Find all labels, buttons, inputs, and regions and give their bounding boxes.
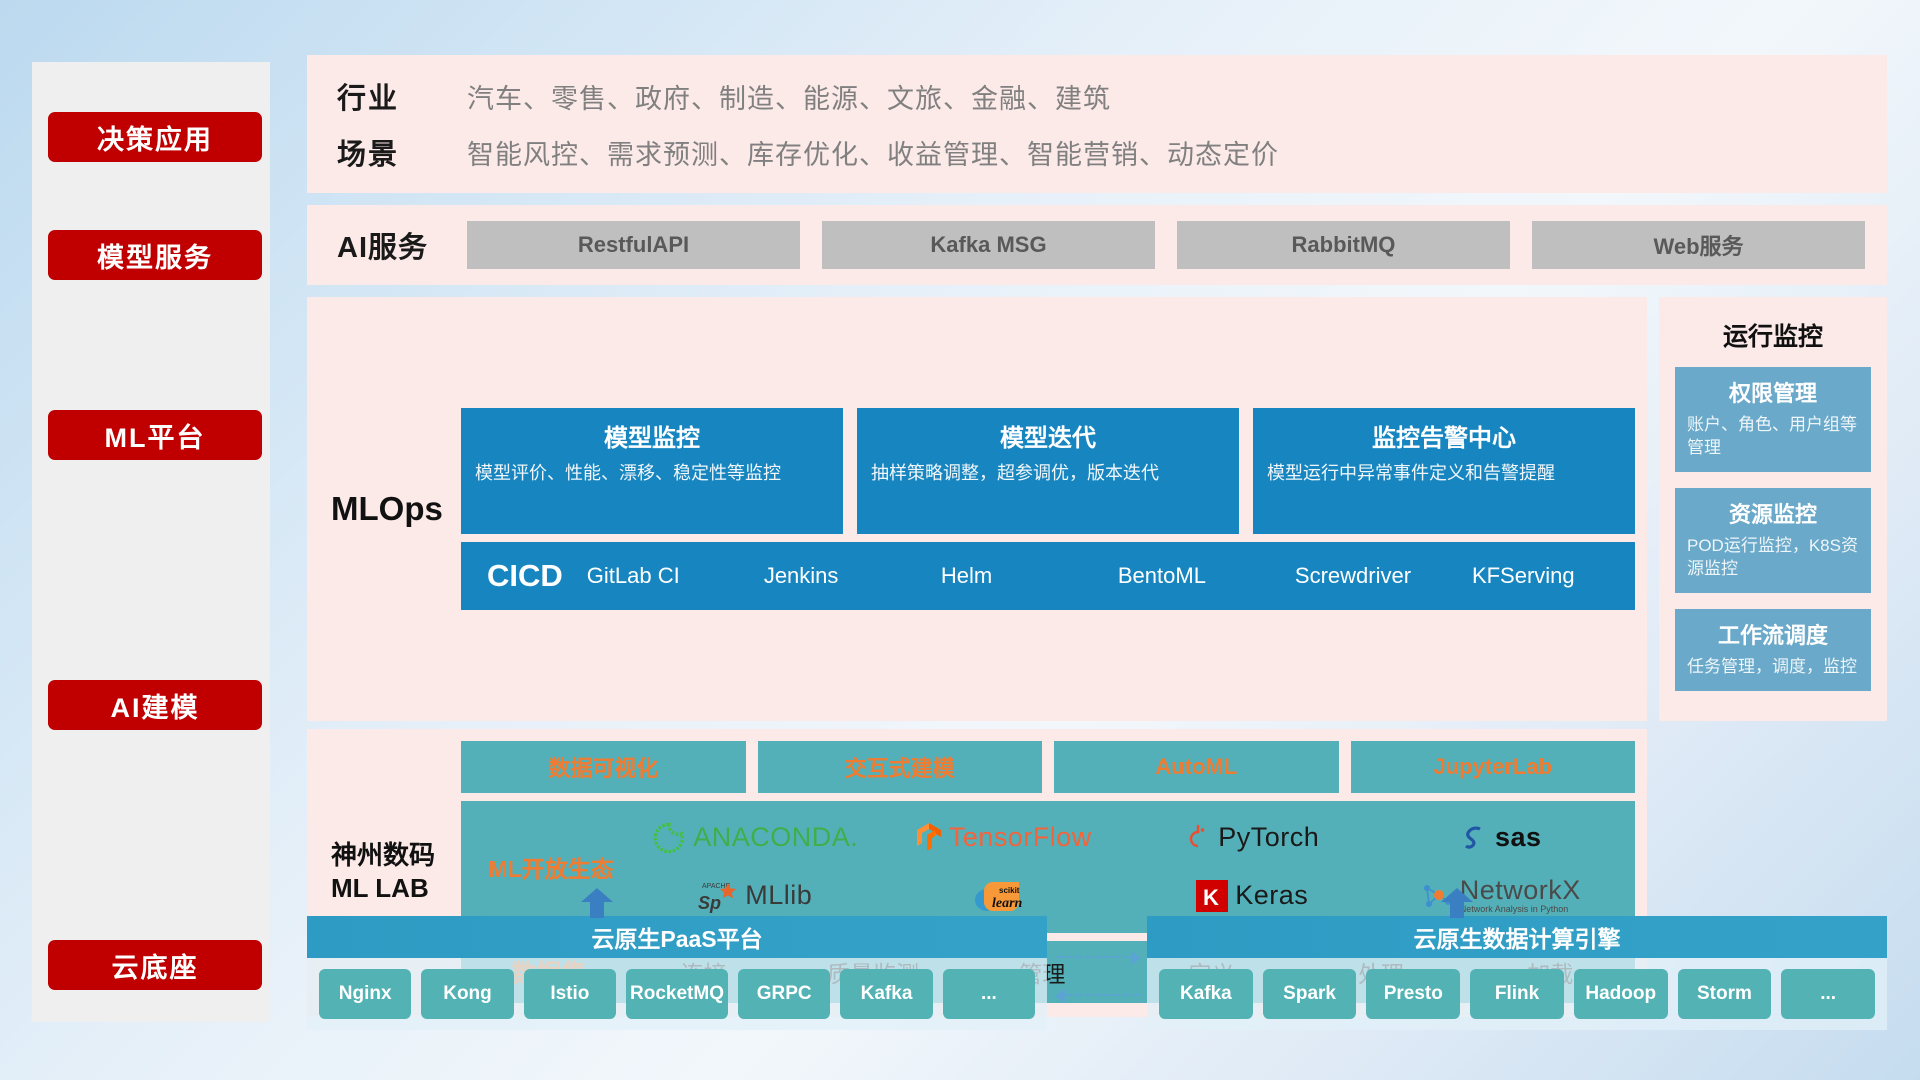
industry-items: 汽车、零售、政府、制造、能源、文旅、金融、建筑 — [467, 77, 1111, 116]
anaconda-icon — [652, 821, 686, 855]
logo-sas: sas — [1377, 809, 1626, 867]
card-title: 模型迭代 — [871, 418, 1225, 453]
ml-lab-label-line1: 神州数码 — [331, 839, 461, 872]
ai-service-band: AI服务 RestfulAPI Kafka MSG RabbitMQ Web服务 — [307, 205, 1887, 285]
paas-platform-title: 云原生PaaS平台 — [307, 916, 1047, 958]
mlops-card-model-iteration[interactable]: 模型迭代 抽样策略调整，超参调优，版本迭代 — [857, 408, 1239, 534]
mlops-section: MLOps 模型监控 模型评价、性能、漂移、稳定性等监控 模型迭代 抽样策略调整… — [307, 297, 1887, 721]
mlops-band: MLOps 模型监控 模型评价、性能、漂移、稳定性等监控 模型迭代 抽样策略调整… — [307, 297, 1647, 721]
cicd-item-kfserving[interactable]: KFServing — [1458, 563, 1635, 588]
logo-text: sas — [1495, 822, 1542, 853]
stage-label: 云底座 — [112, 946, 199, 985]
data-engine-chip-list: Kafka Spark Presto Flink Hadoop Storm ..… — [1147, 958, 1887, 1030]
ai-service-buttons: RestfulAPI Kafka MSG RabbitMQ Web服务 — [467, 221, 1865, 269]
stage-pill-ml-platform[interactable]: ML平台 — [48, 410, 262, 460]
logo-anaconda: ANACONDA. — [631, 809, 880, 867]
infrastructure-section: 云原生PaaS平台 Nginx Kong Istio RocketMQ GRPC… — [307, 898, 1887, 1048]
stage-pill-cloud-base[interactable]: 云底座 — [48, 940, 262, 990]
engine-chip-hadoop[interactable]: Hadoop — [1574, 969, 1668, 1019]
paas-chip-grpc[interactable]: GRPC — [738, 969, 830, 1019]
tool-chip-automl[interactable]: AutoML — [1054, 741, 1339, 793]
paas-chip-kafka[interactable]: Kafka — [840, 969, 932, 1019]
stage-rail — [32, 62, 270, 1022]
logo-text: TensorFlow — [949, 822, 1092, 853]
cicd-item-gitlab-ci[interactable]: GitLab CI — [573, 563, 750, 588]
card-title: 权限管理 — [1687, 376, 1859, 408]
engine-chip-kafka[interactable]: Kafka — [1159, 969, 1253, 1019]
card-desc: 账户、角色、用户组等管理 — [1687, 414, 1859, 460]
card-desc: 模型运行中异常事件定义和告警提醒 — [1267, 461, 1621, 485]
ml-lab-label: 神州数码 ML LAB — [331, 839, 461, 904]
engine-chip-storm[interactable]: Storm — [1678, 969, 1772, 1019]
stage-label: ML平台 — [105, 416, 206, 455]
scenario-label: 场景 — [337, 131, 467, 173]
logo-text: ANACONDA. — [693, 822, 858, 853]
cicd-item-helm[interactable]: Helm — [927, 563, 1104, 588]
card-desc: 任务管理，调度，监控 — [1687, 656, 1859, 679]
mlops-cards: 模型监控 模型评价、性能、漂移、稳定性等监控 模型迭代 抽样策略调整，超参调优，… — [461, 408, 1635, 534]
card-title: 模型监控 — [475, 418, 829, 453]
runtime-monitoring-column: 运行监控 权限管理 账户、角色、用户组等管理 资源监控 POD运行监控，K8S资… — [1659, 297, 1887, 721]
data-compute-engine-block: 云原生数据计算引擎 Kafka Spark Presto Flink Hadoo… — [1147, 916, 1887, 1030]
ai-service-button-rabbitmq[interactable]: RabbitMQ — [1177, 221, 1510, 269]
industry-label: 行业 — [337, 75, 467, 117]
ml-lab-tool-chips: 数据可视化 交互式建模 AutoML JupyterLab — [461, 741, 1635, 793]
ai-service-label: AI服务 — [337, 224, 467, 266]
paas-chip-list: Nginx Kong Istio RocketMQ GRPC Kafka ... — [307, 958, 1047, 1030]
paas-chip-kong[interactable]: Kong — [421, 969, 513, 1019]
stage-label: AI建模 — [111, 686, 200, 725]
engine-chip-more[interactable]: ... — [1781, 969, 1875, 1019]
arrow-left-icon — [1055, 989, 1065, 1003]
card-title: 工作流调度 — [1687, 618, 1859, 650]
ai-service-button-web-service[interactable]: Web服务 — [1532, 221, 1865, 269]
stage-label: 模型服务 — [97, 236, 213, 275]
scenario-items: 智能风控、需求预测、库存优化、收益管理、智能营销、动态定价 — [467, 133, 1279, 172]
mlops-card-model-monitoring[interactable]: 模型监控 模型评价、性能、漂移、稳定性等监控 — [461, 408, 843, 534]
stage-pill-ai-modeling[interactable]: AI建模 — [48, 680, 262, 730]
mlops-content: 模型监控 模型评价、性能、漂移、稳定性等监控 模型迭代 抽样策略调整，超参调优，… — [461, 408, 1635, 610]
card-desc: 模型评价、性能、漂移、稳定性等监控 — [475, 461, 829, 485]
monitor-card-resource[interactable]: 资源监控 POD运行监控，K8S资源监控 — [1675, 488, 1871, 593]
scenario-row: 场景 智能风控、需求预测、库存优化、收益管理、智能营销、动态定价 — [337, 124, 1887, 180]
cicd-item-screwdriver[interactable]: Screwdriver — [1281, 563, 1458, 588]
connector-line-right — [1057, 956, 1139, 958]
engine-chip-flink[interactable]: Flink — [1470, 969, 1564, 1019]
logo-pytorch: PyTorch — [1128, 809, 1377, 867]
cicd-item-jenkins[interactable]: Jenkins — [750, 563, 927, 588]
engine-chip-spark[interactable]: Spark — [1263, 969, 1357, 1019]
pytorch-icon — [1185, 822, 1211, 854]
cicd-title: CICD — [461, 558, 573, 594]
card-title: 资源监控 — [1687, 497, 1859, 529]
stage-pill-decision-app[interactable]: 决策应用 — [48, 112, 262, 162]
up-arrow-icon — [1437, 888, 1477, 918]
sas-icon — [1460, 823, 1488, 853]
monitor-card-workflow[interactable]: 工作流调度 任务管理，调度，监控 — [1675, 609, 1871, 691]
runtime-monitoring-title: 运行监控 — [1675, 307, 1871, 367]
paas-chip-istio[interactable]: Istio — [524, 969, 616, 1019]
paas-chip-rocketmq[interactable]: RocketMQ — [626, 969, 728, 1019]
paas-chip-more[interactable]: ... — [943, 969, 1035, 1019]
tool-chip-interactive-modeling[interactable]: 交互式建模 — [758, 741, 1043, 793]
tool-chip-jupyterlab[interactable]: JupyterLab — [1351, 741, 1636, 793]
engine-chip-presto[interactable]: Presto — [1366, 969, 1460, 1019]
cicd-bar: CICD GitLab CI Jenkins Helm BentoML Scre… — [461, 542, 1635, 610]
bidirectional-connector — [1057, 956, 1139, 996]
arrow-right-icon — [1131, 951, 1141, 965]
tool-chip-data-visualization[interactable]: 数据可视化 — [461, 741, 746, 793]
svg-text:scikit: scikit — [999, 886, 1020, 895]
cicd-items: GitLab CI Jenkins Helm BentoML Screwdriv… — [573, 563, 1635, 588]
monitor-card-permission[interactable]: 权限管理 账户、角色、用户组等管理 — [1675, 367, 1871, 472]
paas-chip-nginx[interactable]: Nginx — [319, 969, 411, 1019]
card-desc: POD运行监控，K8S资源监控 — [1687, 535, 1859, 581]
ml-open-ecosystem-label: ML开放生态 — [471, 850, 631, 884]
up-arrow-icon — [577, 888, 617, 918]
mlops-card-alert-center[interactable]: 监控告警中心 模型运行中异常事件定义和告警提醒 — [1253, 408, 1635, 534]
data-compute-engine-title: 云原生数据计算引擎 — [1147, 916, 1887, 958]
mlops-label: MLOps — [331, 490, 461, 528]
connector-line-left — [1057, 994, 1139, 996]
card-title: 监控告警中心 — [1267, 418, 1621, 453]
ai-service-button-kafka-msg[interactable]: Kafka MSG — [822, 221, 1155, 269]
industry-row: 行业 汽车、零售、政府、制造、能源、文旅、金融、建筑 — [337, 68, 1887, 124]
stage-pill-model-service[interactable]: 模型服务 — [48, 230, 262, 280]
logo-tensorflow: TensorFlow — [880, 809, 1129, 867]
logo-text: PyTorch — [1218, 822, 1319, 853]
stage-label: 决策应用 — [97, 118, 213, 157]
tensorflow-icon — [916, 822, 942, 854]
card-desc: 抽样策略调整，超参调优，版本迭代 — [871, 461, 1225, 485]
cicd-item-bentoml[interactable]: BentoML — [1104, 563, 1281, 588]
architecture-main-column: 行业 汽车、零售、政府、制造、能源、文旅、金融、建筑 场景 智能风控、需求预测、… — [307, 55, 1887, 1017]
ai-service-button-restfulapi[interactable]: RestfulAPI — [467, 221, 800, 269]
industry-scenario-band: 行业 汽车、零售、政府、制造、能源、文旅、金融、建筑 场景 智能风控、需求预测、… — [307, 55, 1887, 193]
paas-platform-block: 云原生PaaS平台 Nginx Kong Istio RocketMQ GRPC… — [307, 916, 1047, 1030]
